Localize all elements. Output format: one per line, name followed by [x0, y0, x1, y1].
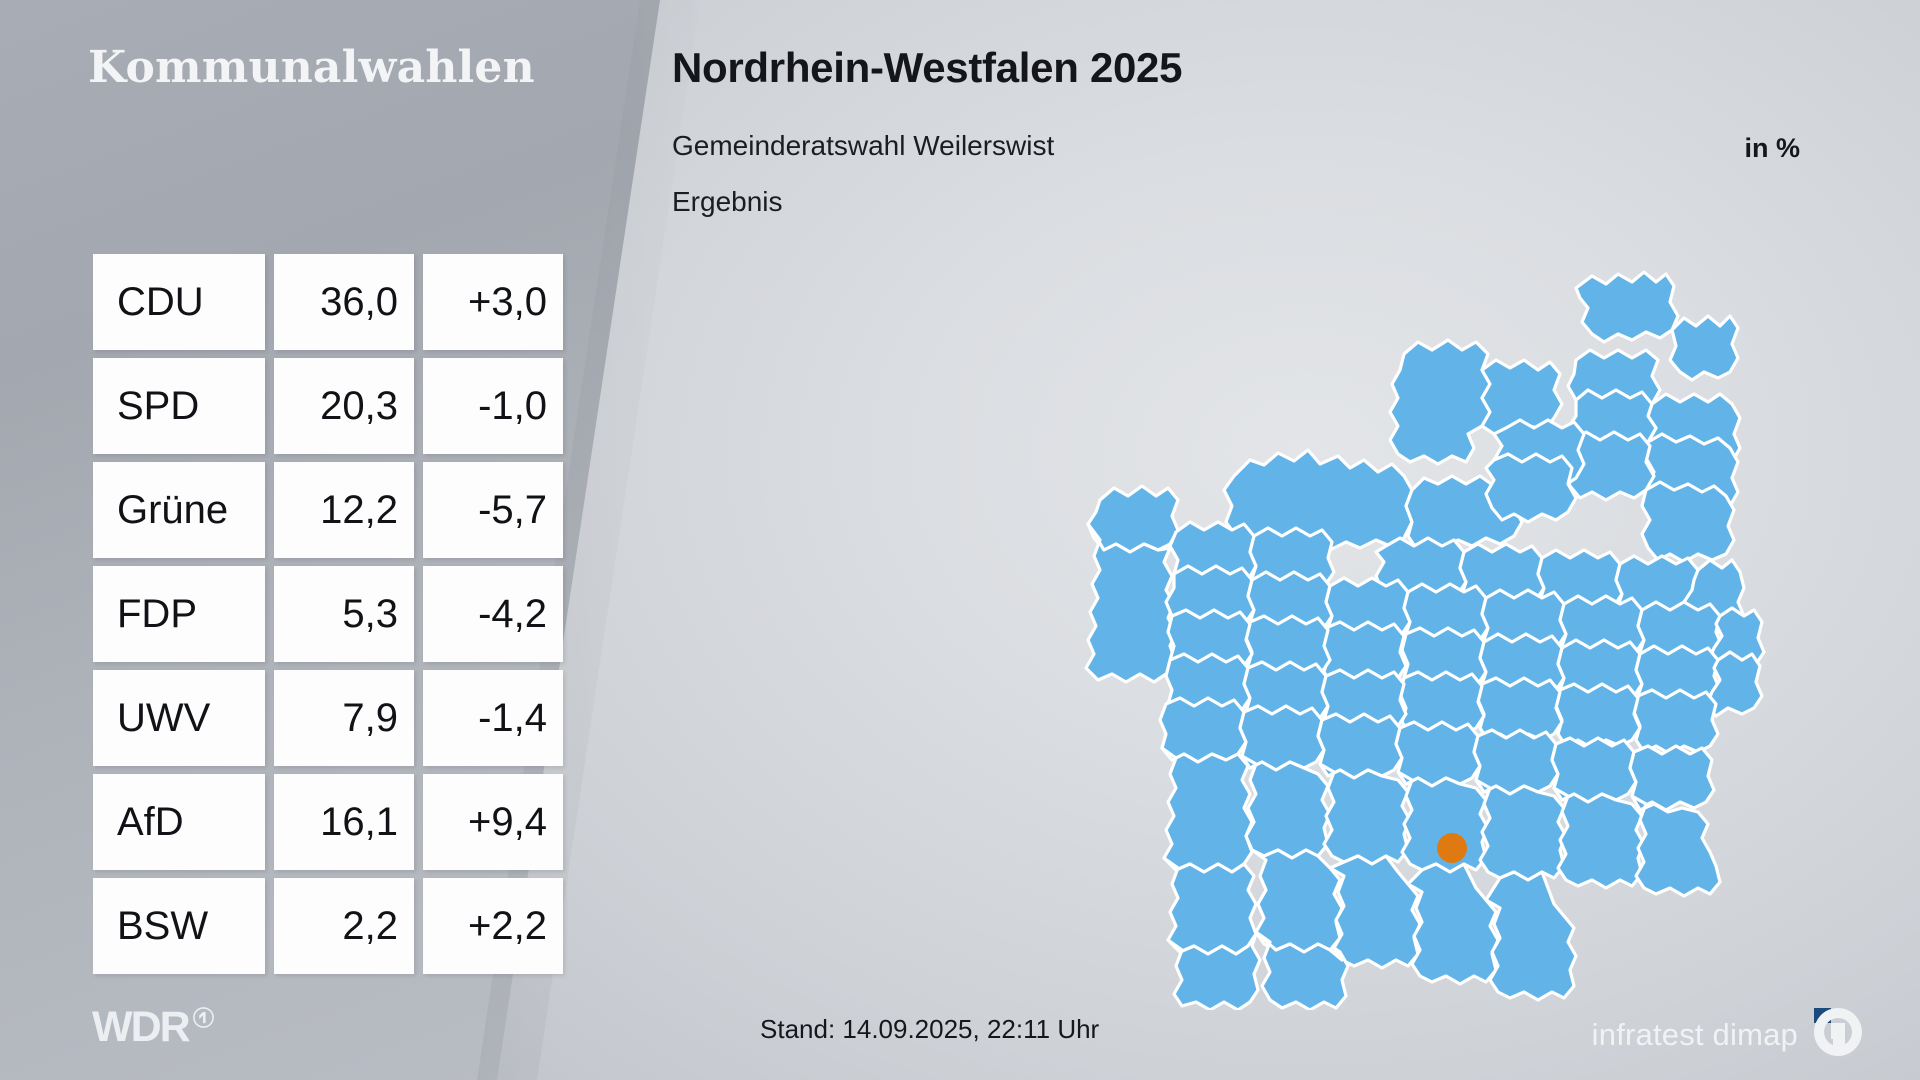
- page-title: Nordrhein-Westfalen 2025: [672, 44, 1182, 92]
- broadcast-graphic: Kommunalwahlen Nordrhein-Westfalen 2025 …: [0, 0, 1920, 1080]
- wdr-wordmark: WDR: [92, 1006, 189, 1049]
- party-result: 20,3: [274, 358, 414, 454]
- district: [1576, 272, 1678, 342]
- district: [1252, 850, 1342, 952]
- party-change: +9,4: [423, 774, 563, 870]
- subtitle-result: Ergebnis: [672, 186, 783, 218]
- wdr-logo: WDR: [92, 1006, 214, 1054]
- party-name: Grüne: [93, 462, 265, 558]
- district: [1642, 482, 1734, 562]
- table-row: BSW 2,2 +2,2: [93, 878, 563, 974]
- table-row: SPD 20,3 -1,0: [93, 358, 563, 454]
- party-result: 7,9: [274, 670, 414, 766]
- infratest-dimap-wordmark: infratest dimap: [1592, 1017, 1798, 1053]
- weilerswist-marker-icon: [1437, 833, 1467, 863]
- table-row: FDP 5,3 -4,2: [93, 566, 563, 662]
- party-name: FDP: [93, 566, 265, 662]
- party-result: 12,2: [274, 462, 414, 558]
- party-change: -4,2: [423, 566, 563, 662]
- party-change: -1,4: [423, 670, 563, 766]
- party-change: +2,2: [423, 878, 563, 974]
- district: [1162, 748, 1252, 872]
- status-timestamp: Stand: 14.09.2025, 22:11 Uhr: [760, 1014, 1099, 1045]
- party-name: UWV: [93, 670, 265, 766]
- district: [1390, 340, 1490, 464]
- district: [1632, 796, 1720, 896]
- district: [1164, 858, 1256, 954]
- table-row: Grüne 12,2 -5,7: [93, 462, 563, 558]
- party-change: -5,7: [423, 462, 563, 558]
- program-title: Kommunalwahlen: [88, 42, 535, 93]
- infratest-dimap-logo-icon: [1812, 1006, 1864, 1063]
- party-name: AfD: [93, 774, 265, 870]
- party-result: 16,1: [274, 774, 414, 870]
- district: [1554, 788, 1644, 888]
- ard-one-circle-icon: [193, 1007, 214, 1033]
- table-row: AfD 16,1 +9,4: [93, 774, 563, 870]
- district-shapes: [1086, 272, 1764, 1010]
- party-change: -1,0: [423, 358, 563, 454]
- results-table: CDU 36,0 +3,0 SPD 20,3 -1,0 Grüne 12,2 -…: [93, 254, 563, 974]
- district: [1242, 756, 1330, 858]
- party-result: 5,3: [274, 566, 414, 662]
- party-name: CDU: [93, 254, 265, 350]
- district: [1320, 764, 1410, 864]
- unit-label: in %: [1744, 133, 1800, 164]
- nrw-map-svg: [1020, 250, 1780, 1010]
- infratest-dimap-logo: infratest dimap: [1592, 1006, 1864, 1063]
- district: [1486, 454, 1576, 522]
- nrw-map: [1020, 250, 1780, 1010]
- subtitle-election: Gemeinderatswahl Weilerswist: [672, 130, 1054, 162]
- party-name: BSW: [93, 878, 265, 974]
- party-result: 36,0: [274, 254, 414, 350]
- table-row: CDU 36,0 +3,0: [93, 254, 563, 350]
- party-result: 2,2: [274, 878, 414, 974]
- table-row: UWV 7,9 -1,4: [93, 670, 563, 766]
- district: [1476, 780, 1566, 880]
- district: [1160, 698, 1246, 762]
- district: [1330, 856, 1420, 968]
- district: [1088, 486, 1178, 552]
- district: [1670, 316, 1738, 380]
- party-change: +3,0: [423, 254, 563, 350]
- district: [1486, 872, 1576, 1000]
- party-name: SPD: [93, 358, 265, 454]
- district: [1408, 864, 1498, 984]
